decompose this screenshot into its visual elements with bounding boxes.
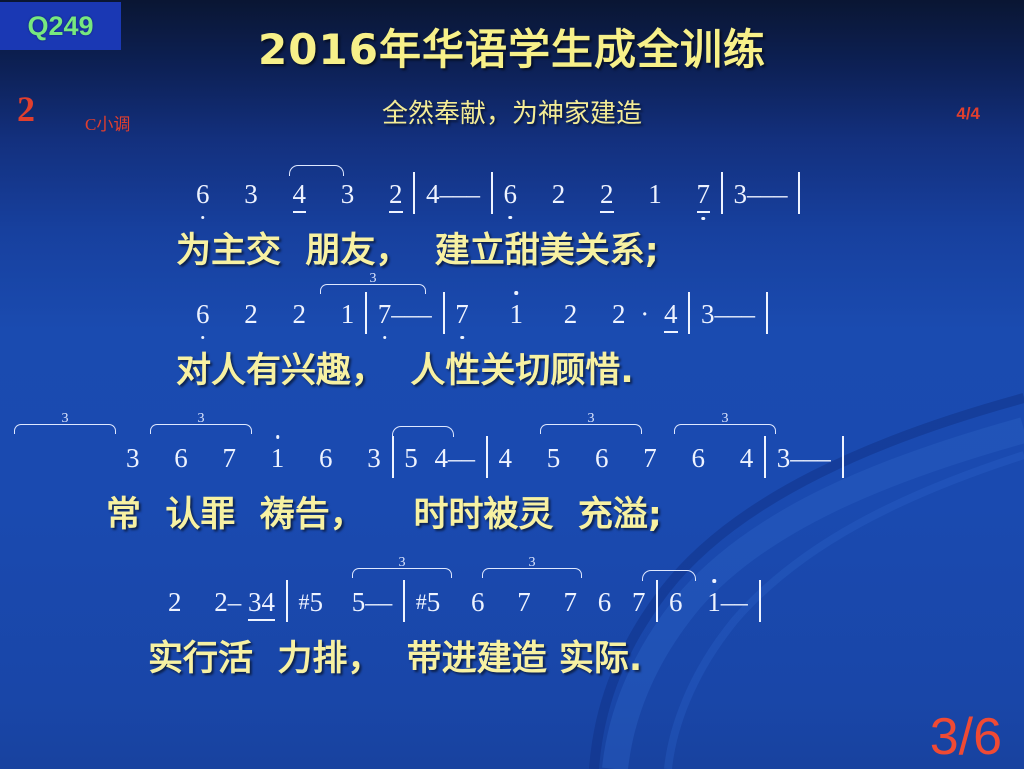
note: 4: [262, 587, 276, 621]
score-line-3: 3 3 3 3 3 6 7 1 6 3 5 4 –– 4 5 6 7 6 4 3…: [0, 436, 1024, 537]
note: 2: [214, 587, 228, 618]
lyric-row-1: 为主交 朋友， 建立甜美关系;: [0, 222, 1024, 273]
note: 4: [435, 443, 449, 474]
note: 4: [499, 443, 513, 474]
notation-row-4: 3 3 2 2– 34 #5 5–– #5 6 7 7 6 7 6 1––: [0, 580, 1024, 630]
barline: [798, 172, 800, 214]
barline: [759, 580, 761, 622]
note: 3: [777, 443, 791, 474]
note: 7: [643, 443, 657, 474]
note: 7: [697, 179, 711, 213]
notation-row-3: 3 3 3 3 3 6 7 1 6 3 5 4 –– 4 5 6 7 6 4 3…: [0, 436, 1024, 486]
note: 2: [564, 299, 578, 330]
slur-mark: [289, 165, 344, 176]
note: 2: [168, 587, 182, 618]
triplet-bracket: 3: [482, 568, 582, 578]
slide-canvas: Q249 2 C小调 2016年华语学生成全训练 全然奉献，为神家建造 4/4 …: [0, 0, 1024, 769]
barline: [656, 580, 658, 622]
note: 1: [510, 299, 524, 330]
page-subtitle: 全然奉献，为神家建造: [0, 93, 1024, 130]
triplet-bracket: 3: [540, 424, 642, 434]
barline: [766, 292, 768, 334]
note: 7: [632, 587, 646, 618]
note: 6: [196, 179, 210, 210]
barline: [365, 292, 367, 334]
note: 2: [552, 179, 566, 210]
barline: [842, 436, 844, 478]
barline: [491, 172, 493, 214]
triplet-bracket: 3: [352, 568, 452, 578]
note: 6: [471, 587, 485, 618]
barline: [443, 292, 445, 334]
notation-row-2: 3 6 2 2 1 7––– 7 1 2 2 · 4 3–––: [0, 292, 1024, 342]
note: 3: [248, 587, 262, 621]
page-number: 3/6: [930, 711, 1002, 763]
slur-mark: [642, 570, 696, 581]
note: 3: [341, 179, 355, 210]
note: 4: [426, 179, 440, 210]
page-title: 2016年华语学生成全训练: [0, 16, 1024, 77]
note: 6: [319, 443, 333, 474]
barline: [403, 580, 405, 622]
note: 5: [404, 443, 418, 474]
note: 2: [389, 179, 403, 213]
lyric-row-2: 对人有兴趣， 人性关切顾惜.: [0, 342, 1024, 393]
note: 2: [600, 179, 614, 213]
note: #5: [299, 587, 324, 618]
note: 6: [598, 587, 612, 618]
note: 1: [271, 443, 285, 474]
notation-row-1: 6 3 4 3 2 4––– 6 2 2 1 7 3–––: [0, 172, 1024, 222]
note: 5: [352, 587, 366, 618]
note: 3: [126, 443, 140, 474]
time-signature: 4/4: [956, 104, 980, 124]
slur-mark: [392, 426, 454, 437]
augmentation-dot: ·: [640, 299, 649, 330]
barline: [764, 436, 766, 478]
note: 4: [293, 179, 307, 213]
note: 2: [244, 299, 258, 330]
note: 6: [196, 299, 210, 330]
note: 6: [669, 587, 683, 618]
note: 7: [564, 587, 578, 618]
score-line-4: 3 3 2 2– 34 #5 5–– #5 6 7 7 6 7 6 1–– 实行…: [0, 580, 1024, 681]
score-line-1: 6 3 4 3 2 4––– 6 2 2 1 7 3––– 为主交 朋友， 建立…: [0, 172, 1024, 273]
score-line-2: 3 6 2 2 1 7––– 7 1 2 2 · 4 3––– 对人有兴趣， 人…: [0, 292, 1024, 393]
triplet-bracket: 3: [320, 284, 426, 294]
note: 5: [547, 443, 561, 474]
barline: [486, 436, 488, 478]
note: 4: [664, 299, 678, 333]
note: 6: [504, 179, 518, 210]
note: 3: [367, 443, 381, 474]
note: 7: [378, 299, 392, 330]
note: 1: [341, 299, 355, 330]
note: 7: [455, 299, 469, 330]
note: 2: [293, 299, 307, 330]
triplet-bracket: 3: [14, 424, 116, 434]
note: 7: [517, 587, 531, 618]
barline: [286, 580, 288, 622]
note: #5: [416, 587, 441, 618]
triplet-bracket: 3: [674, 424, 776, 434]
note: 1: [648, 179, 662, 210]
lyric-row-4: 实行活 力排， 带进建造 实际.: [0, 630, 1024, 681]
barline: [413, 172, 415, 214]
note: 3: [734, 179, 748, 210]
barline: [392, 436, 394, 478]
note: 4: [740, 443, 754, 474]
note: 3: [701, 299, 715, 330]
note: 6: [174, 443, 188, 474]
note: 6: [692, 443, 706, 474]
note: 6: [595, 443, 609, 474]
triplet-bracket: 3: [150, 424, 252, 434]
note: 7: [223, 443, 237, 474]
barline: [688, 292, 690, 334]
note: 1: [707, 587, 721, 618]
barline: [721, 172, 723, 214]
note: 3: [244, 179, 258, 210]
note: 2: [612, 299, 626, 330]
lyric-row-3: 常 认罪 祷告， 时时被灵 充溢;: [0, 486, 1024, 537]
